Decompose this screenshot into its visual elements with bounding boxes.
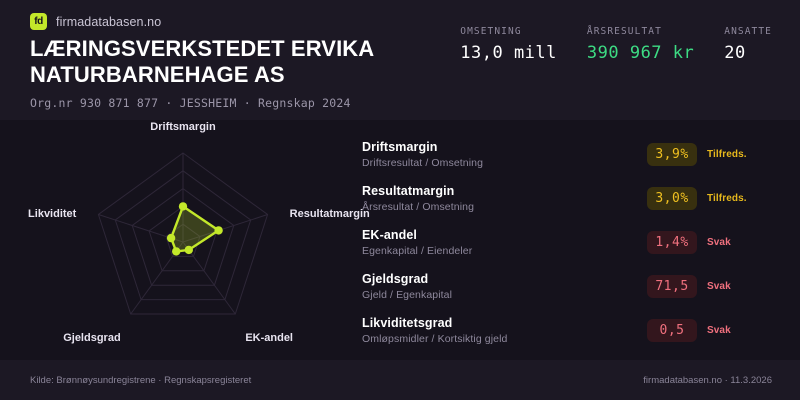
stat-label: OMSETNING: [460, 26, 557, 37]
metric-name: Resultatmargin: [362, 184, 647, 198]
status-badge: Tilfreds.: [707, 193, 747, 204]
radar-axis-label-resultatmargin: Resultatmargin: [290, 208, 370, 220]
metric-row-resultatmargin[interactable]: Resultatmargin Årsresultat / Omsetning 3…: [362, 176, 782, 220]
status-badge: Svak: [707, 237, 731, 248]
metric-text: EK-andel Egenkapital / Eiendeler: [362, 228, 647, 257]
radar-chart-svg: [0, 120, 360, 360]
stat-ansatte: ANSATTE 20: [724, 26, 772, 63]
metric-row-gjeldsgrad[interactable]: Gjeldsgrad Gjeld / Egenkapital 71,5 Svak: [362, 264, 782, 308]
radar-point: [167, 234, 175, 242]
body: Driftsmargin Resultatmargin EK-andel Gje…: [0, 120, 800, 360]
header: fd firmadatabasen.no LÆRINGSVERKSTEDET E…: [0, 0, 800, 120]
footer-attribution: firmadatabasen.no · 11.3.2026: [643, 375, 772, 386]
stat-label: ÅRSRESULTAT: [587, 26, 694, 37]
header-stats: OMSETNING 13,0 mill ÅRSRESULTAT 390 967 …: [460, 26, 772, 63]
metrics-list: Driftsmargin Driftsresultat / Omsetning …: [362, 132, 782, 352]
status-badge: Svak: [707, 325, 731, 336]
footer: Kilde: Brønnøysundregistrene · Regnskaps…: [0, 360, 800, 400]
metric-row-likviditetsgrad[interactable]: Likviditetsgrad Omløpsmidler / Kortsikti…: [362, 308, 782, 352]
stat-arsresultat: ÅRSRESULTAT 390 967 kr: [587, 26, 694, 63]
radar-point: [185, 246, 193, 254]
brand[interactable]: fd firmadatabasen.no: [30, 13, 161, 30]
metric-value-badge: 3,0%: [647, 187, 697, 210]
metric-row-driftsmargin[interactable]: Driftsmargin Driftsresultat / Omsetning …: [362, 132, 782, 176]
metric-formula: Driftsresultat / Omsetning: [362, 157, 647, 169]
radar-axis-label-likviditet: Likviditet: [28, 208, 76, 220]
status-badge: Svak: [707, 281, 731, 292]
report-card: fd firmadatabasen.no LÆRINGSVERKSTEDET E…: [0, 0, 800, 400]
brand-name: firmadatabasen.no: [56, 15, 161, 29]
metric-value-badge: 3,9%: [647, 143, 697, 166]
footer-source: Kilde: Brønnøysundregistrene · Regnskaps…: [30, 375, 251, 386]
radar-series-area: [171, 206, 219, 251]
metric-formula: Omløpsmidler / Kortsiktig gjeld: [362, 333, 647, 345]
metric-right: 71,5 Svak: [647, 275, 731, 298]
radar-point: [214, 226, 222, 234]
metric-name: Driftsmargin: [362, 140, 647, 154]
stat-label: ANSATTE: [724, 26, 772, 37]
status-badge: Tilfreds.: [707, 149, 747, 160]
metric-right: 0,5 Svak: [647, 319, 731, 342]
stat-value: 20: [724, 43, 772, 63]
stat-value: 390 967 kr: [587, 43, 694, 63]
radar-point: [179, 202, 187, 210]
metric-text: Likviditetsgrad Omløpsmidler / Kortsikti…: [362, 316, 647, 345]
radar-axis-label-driftsmargin: Driftsmargin: [150, 121, 215, 133]
metric-right: 1,4% Svak: [647, 231, 731, 254]
metric-formula: Gjeld / Egenkapital: [362, 289, 647, 301]
stat-value: 13,0 mill: [460, 43, 557, 63]
metric-right: 3,9% Tilfreds.: [647, 143, 747, 166]
metric-text: Driftsmargin Driftsresultat / Omsetning: [362, 140, 647, 169]
company-meta: Org.nr 930 871 877 · JESSHEIM · Regnskap…: [30, 96, 351, 110]
metric-right: 3,0% Tilfreds.: [647, 187, 747, 210]
firmadatabasen-logo-icon: fd: [30, 13, 47, 30]
page-title: LÆRINGSVERKSTEDET ERVIKA NATURBARNEHAGE …: [30, 36, 460, 88]
metric-row-ek-andel[interactable]: EK-andel Egenkapital / Eiendeler 1,4% Sv…: [362, 220, 782, 264]
radar-point: [172, 247, 180, 255]
metric-value-badge: 1,4%: [647, 231, 697, 254]
metric-name: Likviditetsgrad: [362, 316, 647, 330]
metric-name: Gjeldsgrad: [362, 272, 647, 286]
radar-axis-label-ek-andel: EK-andel: [245, 332, 293, 344]
metric-text: Resultatmargin Årsresultat / Omsetning: [362, 184, 647, 213]
metric-value-badge: 71,5: [647, 275, 697, 298]
metric-text: Gjeldsgrad Gjeld / Egenkapital: [362, 272, 647, 301]
radar-chart: Driftsmargin Resultatmargin EK-andel Gje…: [0, 120, 360, 360]
stat-omsetning: OMSETNING 13,0 mill: [460, 26, 557, 63]
metric-value-badge: 0,5: [647, 319, 697, 342]
radar-axis-label-gjeldsgrad: Gjeldsgrad: [63, 332, 120, 344]
metric-formula: Årsresultat / Omsetning: [362, 201, 647, 213]
metric-name: EK-andel: [362, 228, 647, 242]
metric-formula: Egenkapital / Eiendeler: [362, 245, 647, 257]
